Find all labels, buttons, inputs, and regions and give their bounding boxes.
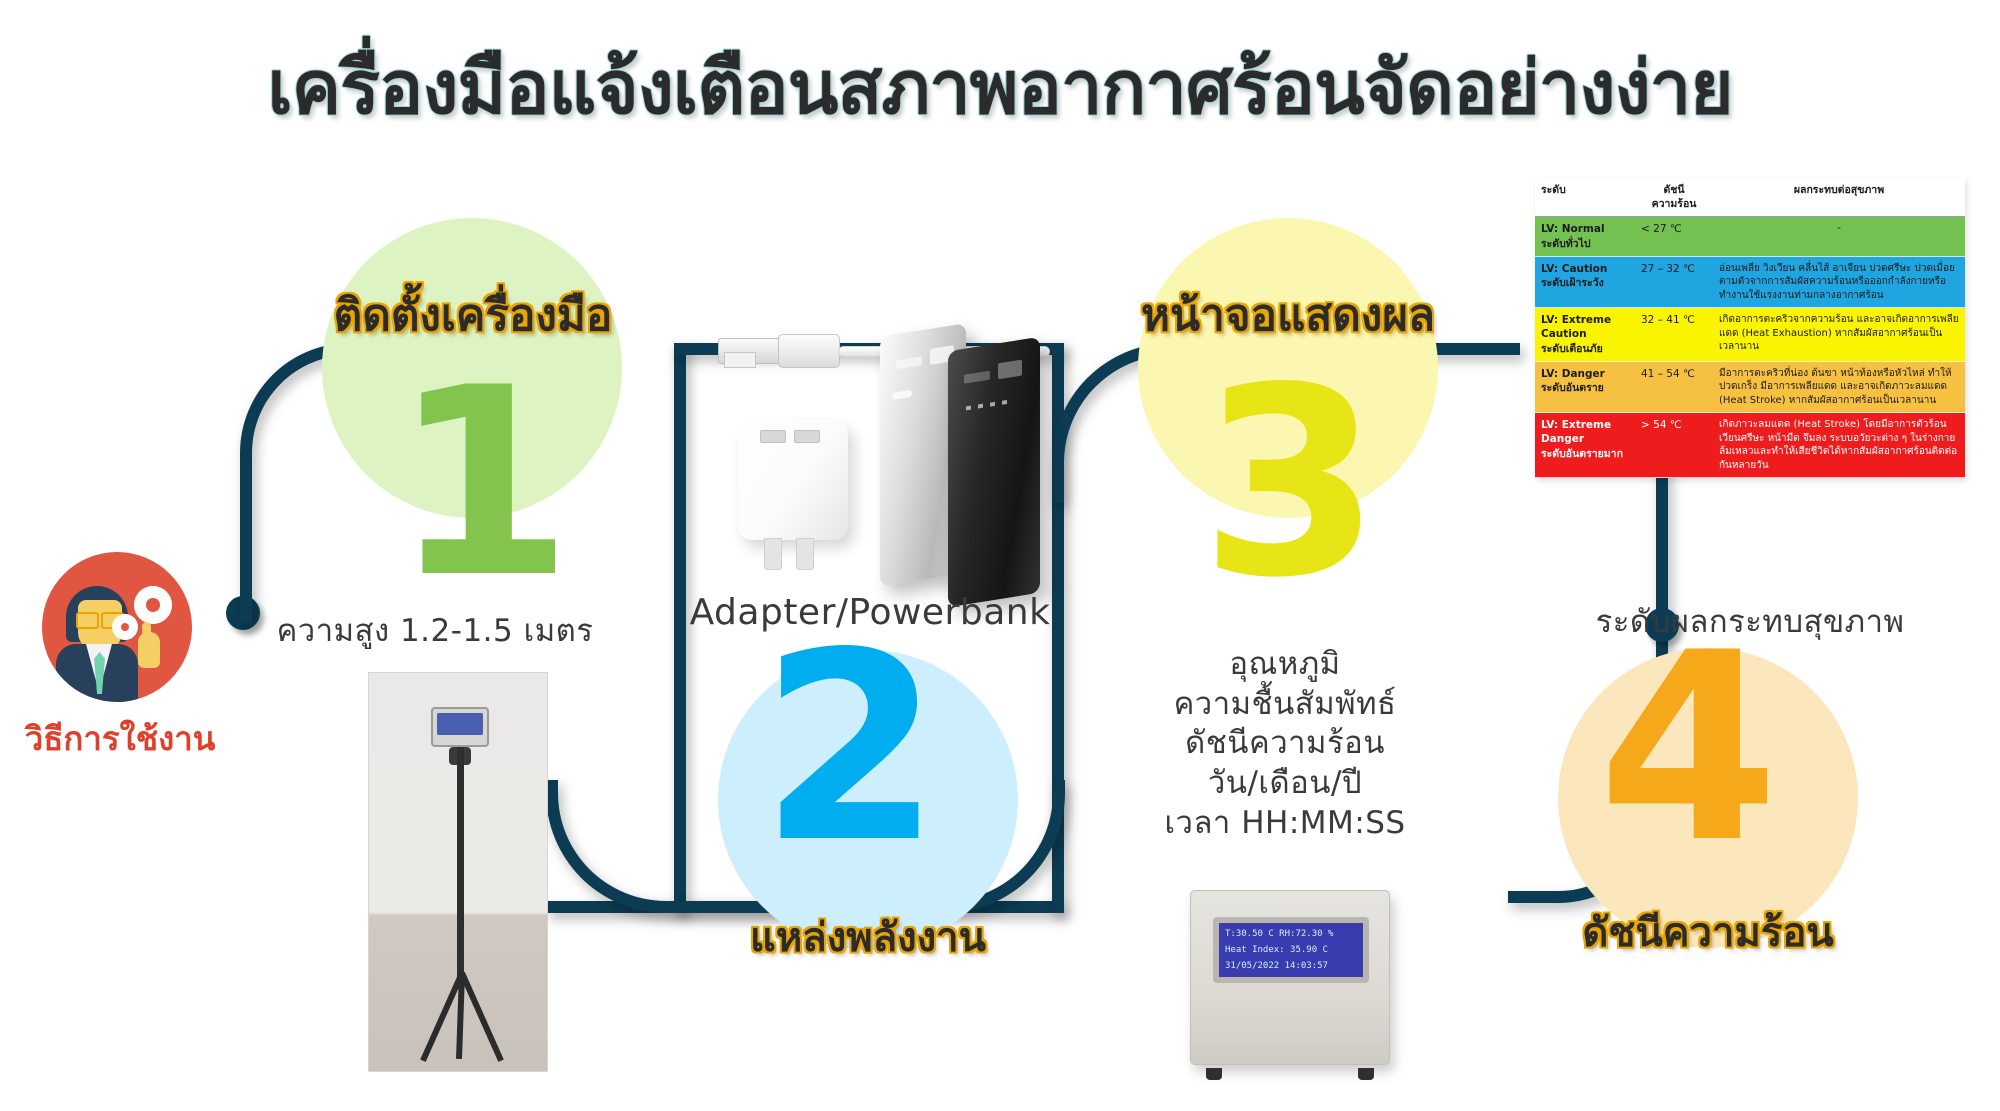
lcd-line-2: Heat Index: 35.90 C xyxy=(1225,945,1328,955)
row-level: LV: Extreme Caution ระดับเตือนภัย xyxy=(1535,308,1635,362)
header-heat-index-line1: ดัชนี xyxy=(1641,183,1707,197)
gear-icon-large xyxy=(134,586,172,624)
step-1-caption: ความสูง 1.2-1.5 เมตร xyxy=(240,605,630,655)
row-level: LV: Normal ระดับทั่วไป xyxy=(1535,217,1635,256)
lcd-display-device-photo: T:30.50 C RH:72.30 % Heat Index: 35.90 C… xyxy=(1190,880,1390,1080)
step-3-caption-line: ดัชนีความร้อน xyxy=(1130,724,1440,764)
row-level-th: ระดับอันตรายมาก xyxy=(1541,447,1629,461)
infographic-canvas: เครื่องมือแจ้งเตือนสภาพอากาศร้อนจัดอย่าง… xyxy=(0,0,2000,1111)
row-effect: - xyxy=(1713,217,1965,256)
usb-connector-inner xyxy=(724,352,756,368)
header-health-effect: ผลกระทบต่อสุขภาพ xyxy=(1713,178,1965,217)
how-to-use-label: วิธีการใช้งาน xyxy=(10,712,230,765)
usb-connector-icon xyxy=(718,338,780,364)
row-level-en: LV: Extreme Danger xyxy=(1541,418,1629,446)
row-level-th: ระดับเฝ้าระวัง xyxy=(1541,276,1629,290)
row-effect: มีอาการตะคริวที่น่อง ต้นขา หน้าท้องหรือห… xyxy=(1713,361,1965,413)
row-index: 27 – 32 ℃ xyxy=(1635,256,1713,308)
powerbank-led-indicators xyxy=(966,399,1010,410)
powerbank-button xyxy=(892,390,912,400)
step-4-label: ดัชนีความร้อน xyxy=(1550,900,1866,964)
heat-index-table: ระดับ ดัชนี ความร้อน ผลกระทบต่อสุขภาพ LV… xyxy=(1535,178,1965,478)
row-level: LV: Extreme Danger ระดับอันตรายมาก xyxy=(1535,413,1635,478)
row-effect: เกิดอาการตะคริวจากความร้อน และอาจเกิดอาก… xyxy=(1713,308,1965,362)
step-2-number: 2 xyxy=(760,645,941,853)
row-level-en: LV: Normal xyxy=(1541,222,1629,236)
device-foot xyxy=(1358,1068,1374,1080)
row-level-en: LV: Extreme Caution xyxy=(1541,313,1629,341)
tripod-leg xyxy=(459,972,504,1062)
step-3-caption-line: อุณหภูมิ xyxy=(1130,645,1440,685)
tripod-device-screen xyxy=(437,713,483,735)
row-index: 41 – 54 ℃ xyxy=(1635,361,1713,413)
step-1-number: 1 xyxy=(392,380,573,588)
step-3-caption-line: ความชื้นสัมพัทธ์ xyxy=(1130,685,1440,725)
device-foot xyxy=(1206,1068,1222,1080)
row-level: LV: Danger ระดับอันตราย xyxy=(1535,361,1635,413)
table-row: LV: Normal ระดับทั่วไป < 27 ℃ - xyxy=(1535,217,1965,256)
row-index: > 54 ℃ xyxy=(1635,413,1713,478)
heat-table-header-row: ระดับ ดัชนี ความร้อน ผลกระทบต่อสุขภาพ xyxy=(1535,178,1965,217)
usb-grip xyxy=(778,334,840,368)
step-3-caption-line: เวลา HH:MM:SS xyxy=(1130,804,1440,844)
table-row: LV: Caution ระดับเฝ้าระวัง 27 – 32 ℃ อ่อ… xyxy=(1535,256,1965,308)
device-lcd-screen: T:30.50 C RH:72.30 % Heat Index: 35.90 C… xyxy=(1213,917,1369,983)
table-row: LV: Extreme Danger ระดับอันตรายมาก > 54 … xyxy=(1535,413,1965,478)
header-heat-index-line2: ความร้อน xyxy=(1641,197,1707,211)
device-enclosure: T:30.50 C RH:72.30 % Heat Index: 35.90 C… xyxy=(1190,890,1390,1065)
row-index: 32 – 41 ℃ xyxy=(1635,308,1713,362)
tripod-pole xyxy=(457,747,464,977)
powerbank-micro-port xyxy=(896,356,922,369)
step-2-label: แหล่งพลังงาน xyxy=(710,905,1026,969)
row-level: LV: Caution ระดับเฝ้าระวัง xyxy=(1535,256,1635,308)
row-level-en: LV: Danger xyxy=(1541,367,1629,381)
row-index: < 27 ℃ xyxy=(1635,217,1713,256)
header-heat-index: ดัชนี ความร้อน xyxy=(1635,178,1713,217)
row-level-en: LV: Caution xyxy=(1541,262,1629,276)
table-row: LV: Extreme Caution ระดับเตือนภัย 32 – 4… xyxy=(1535,308,1965,362)
row-effect: เกิดภาวะลมแดด (Heat Stroke) โดยมีอาการตั… xyxy=(1713,413,1965,478)
power-adapter-photo xyxy=(738,420,848,540)
step-3-number: 3 xyxy=(1200,380,1381,588)
adapter-plug-prongs xyxy=(764,538,824,570)
step-3-caption-list: อุณหภูมิ ความชื้นสัมพัทธ์ ดัชนีความร้อน … xyxy=(1130,645,1440,843)
lcd-line-3: 31/05/2022 14:03:57 xyxy=(1225,961,1328,971)
powerbank-micro-port xyxy=(964,371,990,384)
adapter-usb-ports xyxy=(760,430,830,446)
lcd-line-1: T:30.50 C RH:72.30 % xyxy=(1225,929,1333,939)
pointing-finger-icon xyxy=(142,622,151,644)
heat-table-head: ระดับ ดัชนี ความร้อน ผลกระทบต่อสุขภาพ xyxy=(1535,178,1965,217)
step-3-caption-line: วัน/เดือน/ปี xyxy=(1130,764,1440,804)
table-row: LV: Danger ระดับอันตราย 41 – 54 ℃ มีอากา… xyxy=(1535,361,1965,413)
row-level-th: ระดับเตือนภัย xyxy=(1541,342,1629,356)
powerbank-usb-port xyxy=(998,360,1022,380)
page-title: เครื่องมือแจ้งเตือนสภาพอากาศร้อนจัดอย่าง… xyxy=(0,28,2000,146)
row-level-th: ระดับทั่วไป xyxy=(1541,237,1629,251)
tripod-mounted-device-photo xyxy=(368,672,548,1072)
row-effect: อ่อนเพลีย วิงเวียน คลื่นไส้ อาเจียน ปวดศ… xyxy=(1713,256,1965,308)
expert-gears-icon xyxy=(42,552,192,702)
heat-table-body: LV: Normal ระดับทั่วไป < 27 ℃ - LV: Caut… xyxy=(1535,217,1965,478)
gear-icon-small xyxy=(112,614,138,640)
header-level: ระดับ xyxy=(1535,178,1635,217)
row-level-th: ระดับอันตราย xyxy=(1541,381,1629,395)
step-4-number: 4 xyxy=(1598,645,1779,853)
powerbank-black-photo xyxy=(948,337,1040,608)
how-to-use-icon-wrap xyxy=(42,552,192,702)
